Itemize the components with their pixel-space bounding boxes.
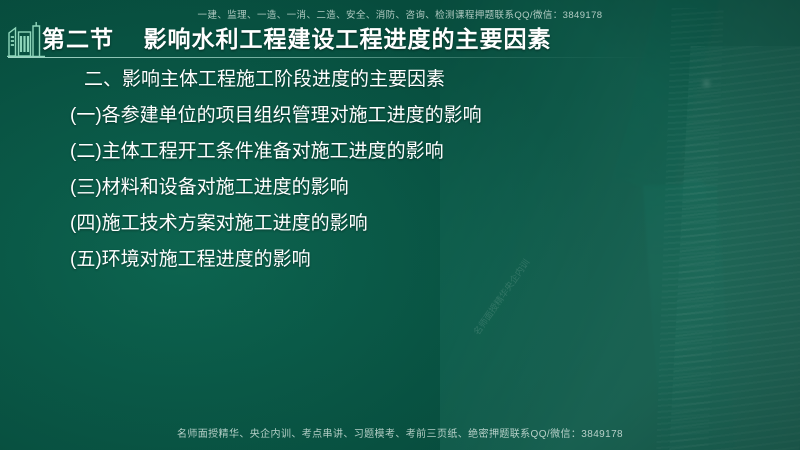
content-line: (三)材料和设备对施工进度的影响 <box>70 170 800 206</box>
slide-header: 第二节 影响水利工程建设工程进度的主要因素 <box>0 0 800 60</box>
content-line: (二)主体工程开工条件准备对施工进度的影响 <box>70 134 800 170</box>
building-skyline-icon <box>6 20 46 58</box>
header-divider <box>8 57 648 58</box>
content-line: (五)环境对施工程进度的影响 <box>70 242 800 278</box>
content-line: (四)施工技术方案对施工进度的影响 <box>70 206 800 242</box>
slide-canvas: 一建、监理、一造、一消、二造、安全、消防、咨询、检测课程押题联系QQ/微信：38… <box>0 0 800 450</box>
content-line: 二、影响主体工程施工阶段进度的主要因素 <box>84 62 800 98</box>
bottom-watermark: 名师面授精华、央企内训、考点串讲、习题模考、考前三页纸、绝密押题联系QQ/微信：… <box>0 425 800 440</box>
content-body: 二、影响主体工程施工阶段进度的主要因素 (一)各参建单位的项目组织管理对施工进度… <box>0 62 800 278</box>
page-title: 第二节 影响水利工程建设工程进度的主要因素 <box>42 20 552 54</box>
content-line: (一)各参建单位的项目组织管理对施工进度的影响 <box>70 98 800 134</box>
